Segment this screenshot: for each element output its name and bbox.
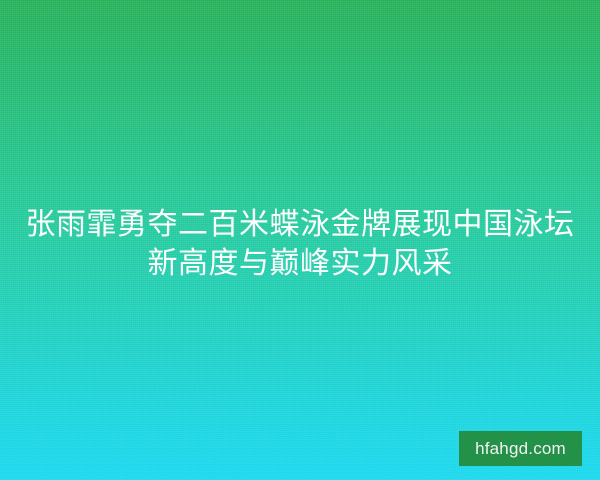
headline-line-1: 张雨霏勇夺二百米蝶泳金牌展现中国泳坛 <box>0 205 600 244</box>
watermark-label: hfahgd.com <box>475 440 566 457</box>
image-canvas: 张雨霏勇夺二百米蝶泳金牌展现中国泳坛 新高度与巅峰实力风采 hfahgd.com <box>0 0 600 480</box>
headline-text: 张雨霏勇夺二百米蝶泳金牌展现中国泳坛 新高度与巅峰实力风采 <box>0 205 600 283</box>
headline-line-2: 新高度与巅峰实力风采 <box>0 244 600 283</box>
watermark-badge: hfahgd.com <box>459 431 582 466</box>
